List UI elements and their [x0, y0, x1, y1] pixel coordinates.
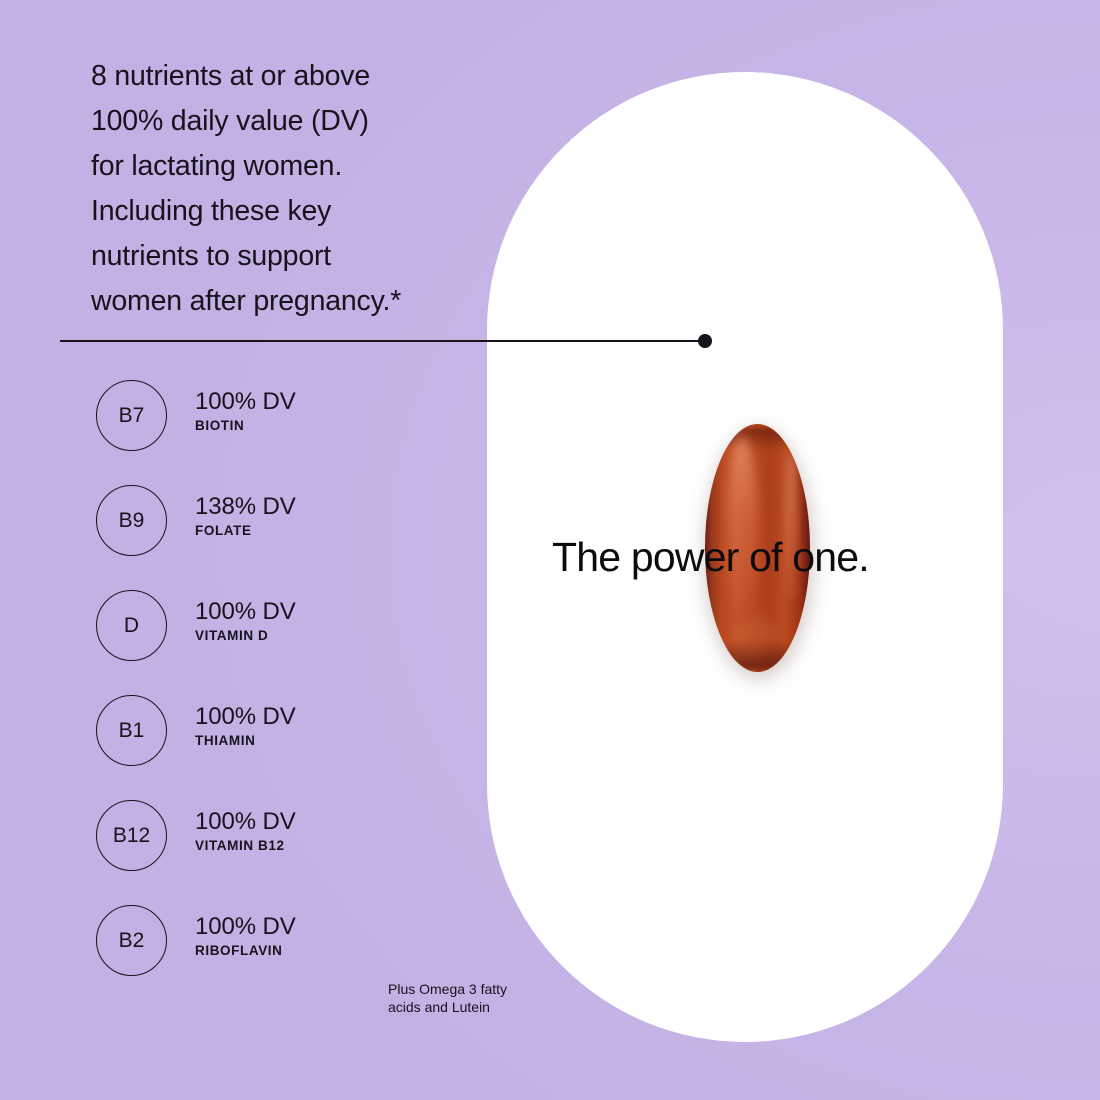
nutrient-name: BIOTIN: [195, 417, 296, 435]
list-item: B12 100% DV VITAMIN B12: [96, 800, 436, 905]
nutrient-badge-b1: B1: [96, 695, 167, 766]
connector-line: [60, 340, 706, 342]
list-item: B9 138% DV FOLATE: [96, 485, 436, 590]
nutrient-list: B7 100% DV BIOTIN B9 138% DV FOLATE D 10…: [96, 380, 436, 1010]
nutrient-text: 100% DV VITAMIN B12: [195, 807, 296, 855]
badge-label: B12: [113, 825, 150, 846]
badge-label: B9: [119, 510, 145, 531]
nutrient-dv-value: 100% DV: [195, 912, 296, 942]
nutrient-name: THIAMIN: [195, 732, 296, 750]
hero-tagline: The power of one.: [552, 531, 869, 583]
nutrient-text: 100% DV THIAMIN: [195, 702, 296, 750]
list-item: B7 100% DV BIOTIN: [96, 380, 436, 485]
list-item: D 100% DV VITAMIN D: [96, 590, 436, 695]
nutrient-dv-value: 100% DV: [195, 597, 296, 627]
nutrient-dv-value: 138% DV: [195, 492, 296, 522]
nutrient-text: 100% DV BIOTIN: [195, 387, 296, 435]
badge-label: B1: [119, 720, 145, 741]
nutrient-dv-value: 100% DV: [195, 702, 296, 732]
nutrient-name: RIBOFLAVIN: [195, 942, 296, 960]
list-item: B2 100% DV RIBOFLAVIN: [96, 905, 436, 1010]
capsule-top-seam: [722, 428, 793, 450]
nutrient-badge-d: D: [96, 590, 167, 661]
capsule-bottom-seam: [720, 640, 796, 670]
nutrient-name: VITAMIN B12: [195, 837, 296, 855]
nutrient-badge-b12: B12: [96, 800, 167, 871]
nutrient-text: 100% DV RIBOFLAVIN: [195, 912, 296, 960]
nutrient-text: 138% DV FOLATE: [195, 492, 296, 540]
badge-label: B2: [119, 930, 145, 951]
nutrient-dv-value: 100% DV: [195, 807, 296, 837]
badge-label: B7: [119, 405, 145, 426]
nutrient-text: 100% DV VITAMIN D: [195, 597, 296, 645]
list-item: B1 100% DV THIAMIN: [96, 695, 436, 800]
nutrient-badge-b2: B2: [96, 905, 167, 976]
footnote-text: Plus Omega 3 fatty acids and Lutein: [388, 980, 563, 1016]
capsule-highlight: [726, 436, 758, 620]
headline-text: 8 nutrients at or above 100% daily value…: [91, 54, 491, 324]
nutrient-name: FOLATE: [195, 522, 296, 540]
nutrient-badge-b7: B7: [96, 380, 167, 451]
nutrient-dv-value: 100% DV: [195, 387, 296, 417]
connector-dot-icon: [698, 334, 712, 348]
badge-label: D: [124, 615, 139, 636]
poster-canvas: 8 nutrients at or above 100% daily value…: [0, 0, 1100, 1100]
nutrient-badge-b9: B9: [96, 485, 167, 556]
nutrient-name: VITAMIN D: [195, 627, 296, 645]
